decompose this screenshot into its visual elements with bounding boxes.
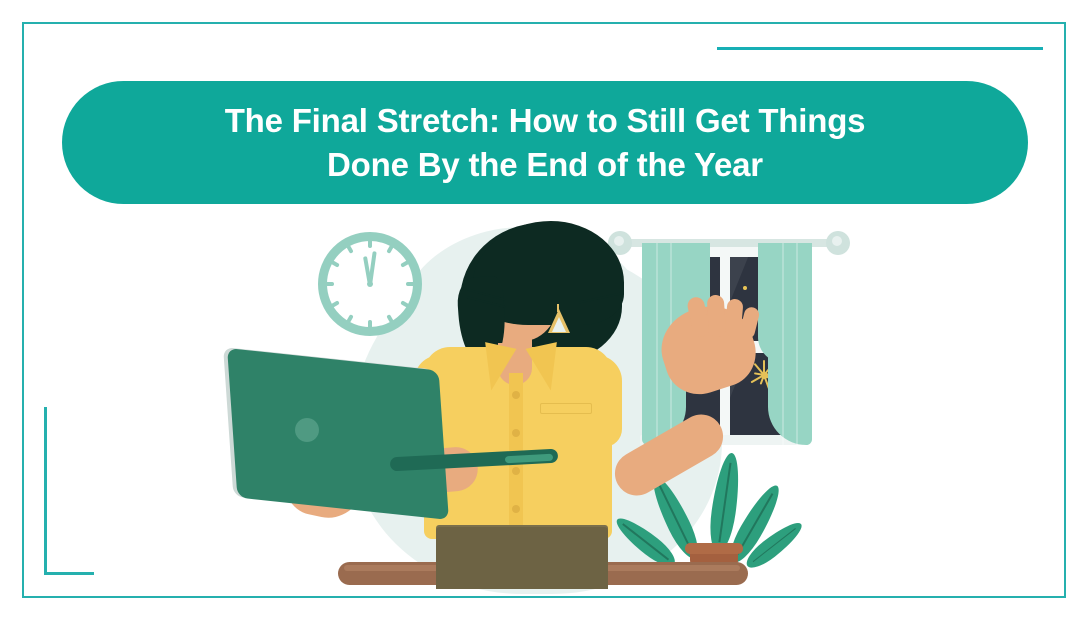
finger <box>707 294 727 337</box>
woman-figure <box>0 205 1090 622</box>
laptop-lid <box>227 348 449 520</box>
top-right-accent-line <box>717 47 1043 50</box>
shirt-button <box>512 467 520 475</box>
title-banner: The Final Stretch: How to Still Get Thin… <box>62 81 1028 204</box>
arm-right <box>607 406 731 503</box>
shirt-button <box>512 505 520 513</box>
skirt <box>436 527 608 589</box>
shirt-button <box>512 391 520 399</box>
hero-illustration <box>0 205 1090 622</box>
page-title-line-1: The Final Stretch: How to Still Get Thin… <box>225 99 866 143</box>
poster-canvas: The Final Stretch: How to Still Get Thin… <box>0 0 1090 622</box>
triangle-earring-inner <box>552 317 566 332</box>
page-title-line-2: Done By the End of the Year <box>225 143 866 187</box>
laptop-logo-icon <box>295 418 319 442</box>
page-title: The Final Stretch: How to Still Get Thin… <box>185 99 906 186</box>
shirt-button <box>512 429 520 437</box>
shirt-pocket <box>540 403 592 414</box>
